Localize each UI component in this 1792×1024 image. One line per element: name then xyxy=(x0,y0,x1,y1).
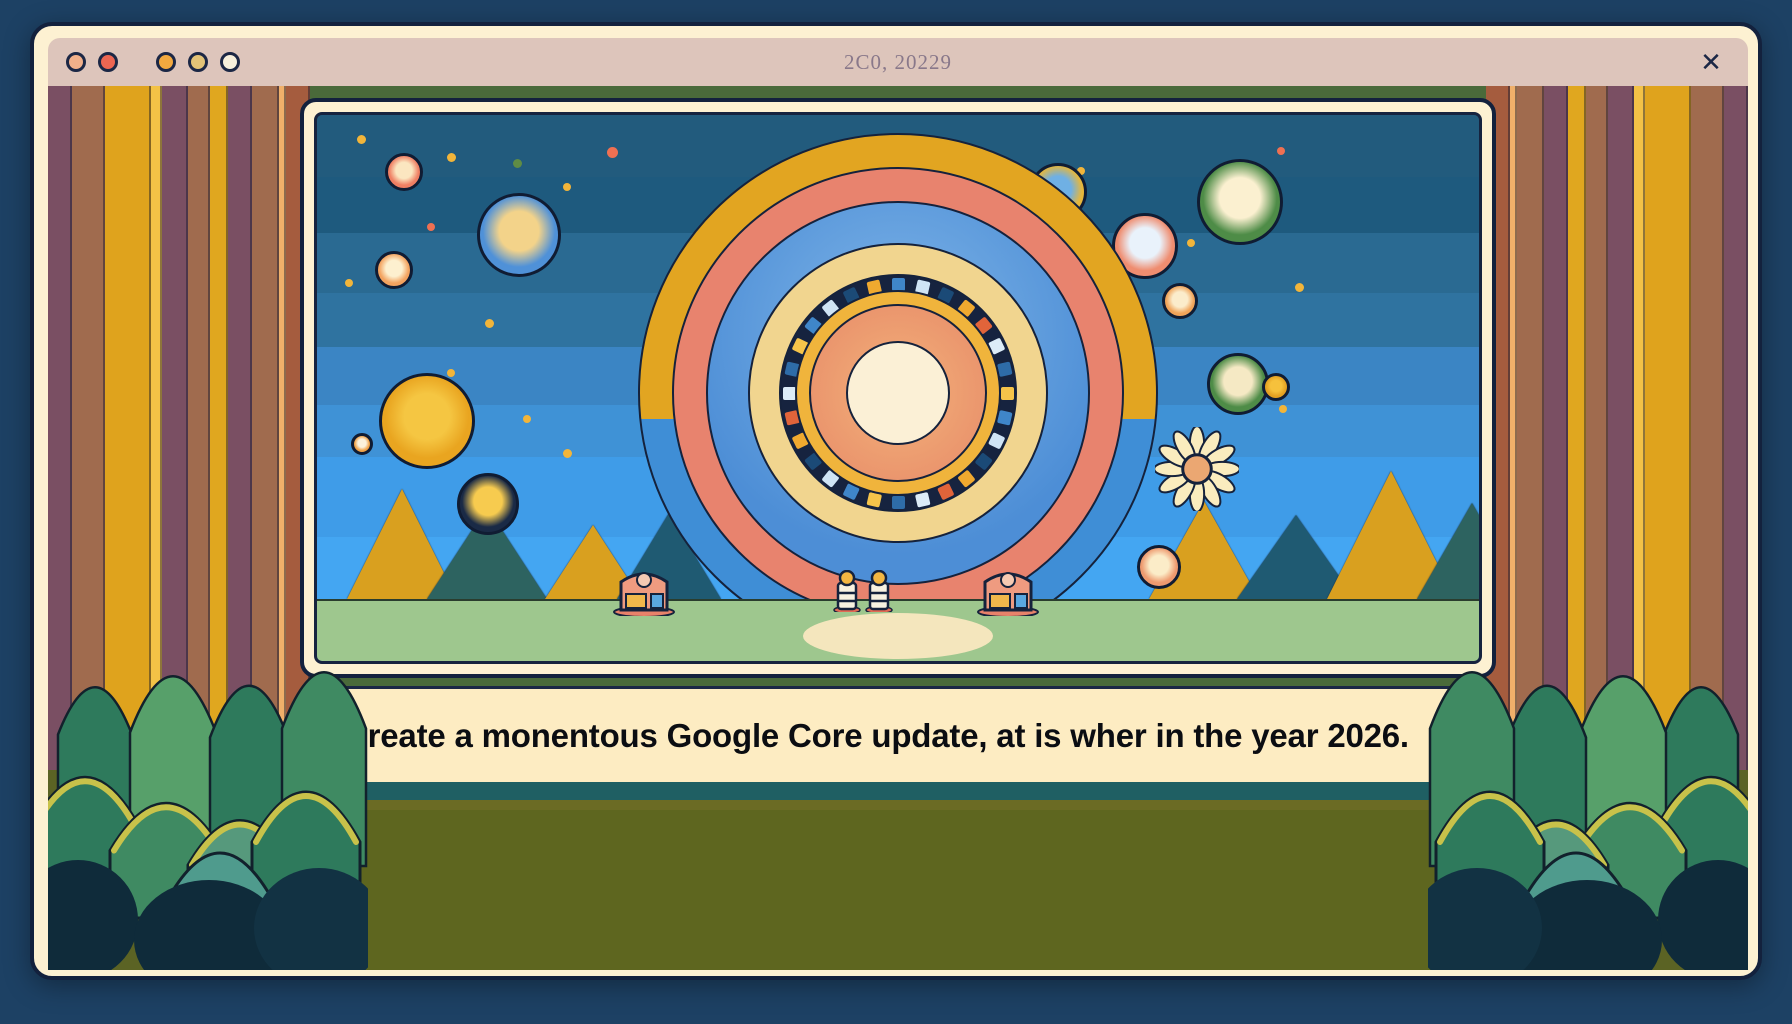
right-wing-ground xyxy=(1486,770,1748,970)
star-speck xyxy=(523,415,531,423)
celestial-orb xyxy=(457,473,519,535)
mandala-tile xyxy=(892,278,905,291)
star-speck xyxy=(1279,405,1287,413)
star-speck xyxy=(447,153,456,162)
band-teal xyxy=(310,782,1486,800)
star-speck xyxy=(427,223,435,231)
picture-frame xyxy=(300,98,1496,678)
ground-plane xyxy=(317,599,1479,661)
illustration xyxy=(314,112,1482,664)
artwork-canvas: Create a monentous Google Core update, a… xyxy=(48,86,1748,970)
star-speck xyxy=(513,159,522,168)
window-dot-cream[interactable] xyxy=(220,52,240,72)
caption-panel: Create a monentous Google Core update, a… xyxy=(310,686,1486,782)
title-bar: 2C0, 20229 ✕ xyxy=(48,38,1748,86)
celestial-orb xyxy=(379,373,475,469)
celestial-orb xyxy=(351,433,373,455)
celestial-orb xyxy=(1162,283,1198,319)
band-olive xyxy=(310,800,1486,810)
celestial-orb xyxy=(477,193,561,277)
window-dot-orange[interactable] xyxy=(156,52,176,72)
window-dot-gold[interactable] xyxy=(188,52,208,72)
celestial-orb xyxy=(375,251,413,289)
star-speck xyxy=(1277,147,1285,155)
star-speck xyxy=(563,183,571,191)
celestial-orb xyxy=(385,153,423,191)
celestial-orb xyxy=(1207,353,1269,415)
star-speck xyxy=(607,147,618,158)
mountain-peak xyxy=(1417,503,1482,599)
house-icon xyxy=(977,564,1039,621)
mandala-tile xyxy=(783,387,796,400)
house-icon xyxy=(613,564,675,621)
celestial-orb xyxy=(1137,545,1181,589)
star-speck xyxy=(357,135,366,144)
close-icon[interactable]: ✕ xyxy=(1696,47,1726,77)
person-figure xyxy=(833,570,861,617)
celestial-orb xyxy=(1262,373,1290,401)
mandala-tile xyxy=(892,496,905,509)
mandala-ring-center-cream xyxy=(846,341,950,445)
celestial-orb xyxy=(1197,159,1283,245)
star-speck xyxy=(447,369,455,377)
window-dot-red[interactable] xyxy=(98,52,118,72)
person-figure xyxy=(865,570,893,617)
star-speck xyxy=(345,279,353,287)
caption-text: Create a monentous Google Core update, a… xyxy=(344,717,1409,755)
sunflower-icon xyxy=(1155,427,1239,511)
mandala-tile xyxy=(1001,387,1014,400)
star-speck xyxy=(1295,283,1304,292)
left-wing-ground xyxy=(48,770,310,970)
window-title: 2C0, 20229 xyxy=(48,50,1748,75)
app-window: 2C0, 20229 ✕ xyxy=(30,22,1762,980)
plaza-ellipse xyxy=(803,613,993,659)
star-speck xyxy=(485,319,494,328)
window-dot-peach[interactable] xyxy=(66,52,86,72)
central-mandala xyxy=(638,133,1158,653)
star-speck xyxy=(563,449,572,458)
star-speck xyxy=(1187,239,1195,247)
window-controls xyxy=(66,52,240,72)
